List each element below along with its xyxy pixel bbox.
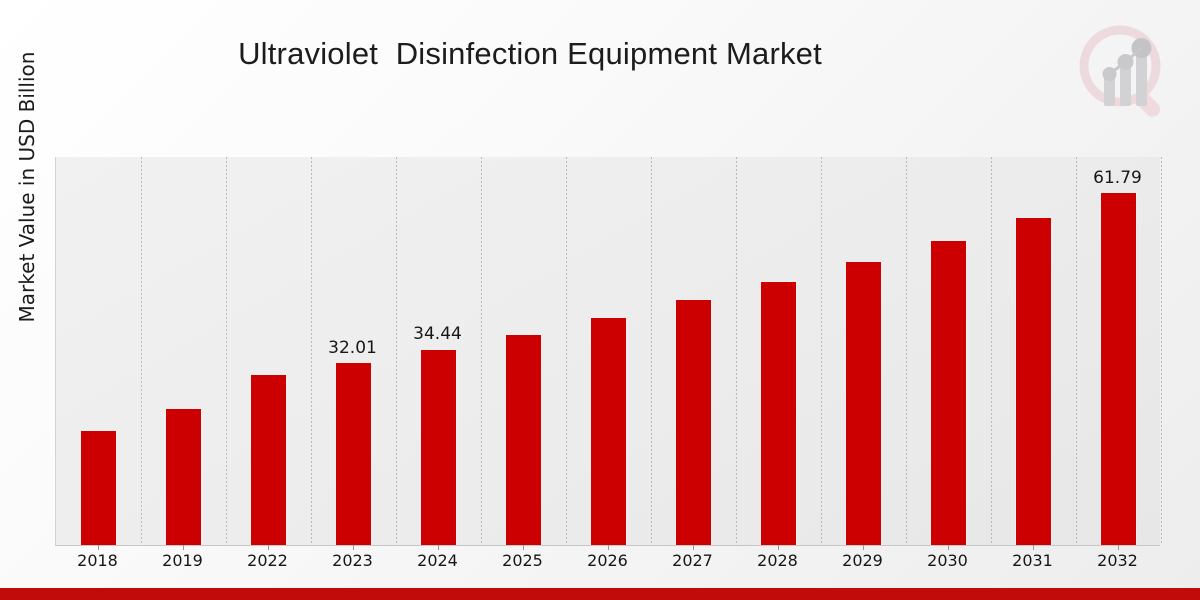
x-tick-label-2031: 2031 bbox=[993, 551, 1073, 570]
x-tick-mark-2022 bbox=[268, 545, 269, 550]
bar-2026[interactable] bbox=[590, 317, 627, 545]
x-tick-mark-2028 bbox=[778, 545, 779, 550]
x-tick-label-2027: 2027 bbox=[653, 551, 733, 570]
bar-2031[interactable] bbox=[1015, 217, 1052, 545]
x-tick-mark-2019 bbox=[183, 545, 184, 550]
x-tick-mark-2027 bbox=[693, 545, 694, 550]
bar-2019[interactable] bbox=[165, 408, 202, 546]
x-tick-mark-2030 bbox=[948, 545, 949, 550]
bar-2029[interactable] bbox=[845, 261, 882, 545]
x-tick-label-2030: 2030 bbox=[908, 551, 988, 570]
x-tick-mark-2026 bbox=[608, 545, 609, 550]
bar-2032[interactable] bbox=[1100, 192, 1137, 545]
x-tick-mark-2024 bbox=[438, 545, 439, 550]
bottom-accent-band bbox=[0, 588, 1200, 600]
bar-value-label-2023: 32.01 bbox=[313, 338, 393, 358]
x-tick-mark-2023 bbox=[353, 545, 354, 550]
y-axis-label: Market Value in USD Billion bbox=[15, 0, 39, 382]
magnifier-bar-chart-logo-icon bbox=[1070, 22, 1178, 122]
plot-area bbox=[55, 157, 1160, 545]
x-tick-mark-2031 bbox=[1033, 545, 1034, 550]
x-tick-label-2029: 2029 bbox=[823, 551, 903, 570]
x-tick-mark-2029 bbox=[863, 545, 864, 550]
x-tick-label-2024: 2024 bbox=[398, 551, 478, 570]
bar-2025[interactable] bbox=[505, 334, 542, 545]
x-tick-mark-2018 bbox=[98, 545, 99, 550]
bar-2022[interactable] bbox=[250, 374, 287, 545]
bar-2024[interactable] bbox=[420, 349, 457, 546]
x-tick-label-2022: 2022 bbox=[228, 551, 308, 570]
x-tick-label-2032: 2032 bbox=[1078, 551, 1158, 570]
bar-value-label-2032: 61.79 bbox=[1078, 168, 1158, 188]
bar-2028[interactable] bbox=[760, 281, 797, 545]
x-tick-mark-2032 bbox=[1118, 545, 1119, 550]
bar-2023[interactable] bbox=[335, 362, 372, 545]
page-title: Ultraviolet Disinfection Equipment Marke… bbox=[0, 36, 1060, 72]
bar-2027[interactable] bbox=[675, 299, 712, 545]
bar-2018[interactable] bbox=[80, 430, 117, 545]
chart-container: Ultraviolet Disinfection Equipment Marke… bbox=[0, 0, 1200, 600]
x-tick-label-2025: 2025 bbox=[483, 551, 563, 570]
x-tick-label-2019: 2019 bbox=[143, 551, 223, 570]
x-tick-label-2028: 2028 bbox=[738, 551, 818, 570]
x-tick-label-2026: 2026 bbox=[568, 551, 648, 570]
x-tick-mark-2025 bbox=[523, 545, 524, 550]
x-tick-label-2018: 2018 bbox=[58, 551, 138, 570]
bar-2030[interactable] bbox=[930, 240, 967, 545]
bar-value-label-2024: 34.44 bbox=[398, 324, 478, 344]
bars-layer bbox=[56, 157, 1160, 545]
gridline bbox=[1161, 157, 1162, 545]
x-tick-label-2023: 2023 bbox=[313, 551, 393, 570]
